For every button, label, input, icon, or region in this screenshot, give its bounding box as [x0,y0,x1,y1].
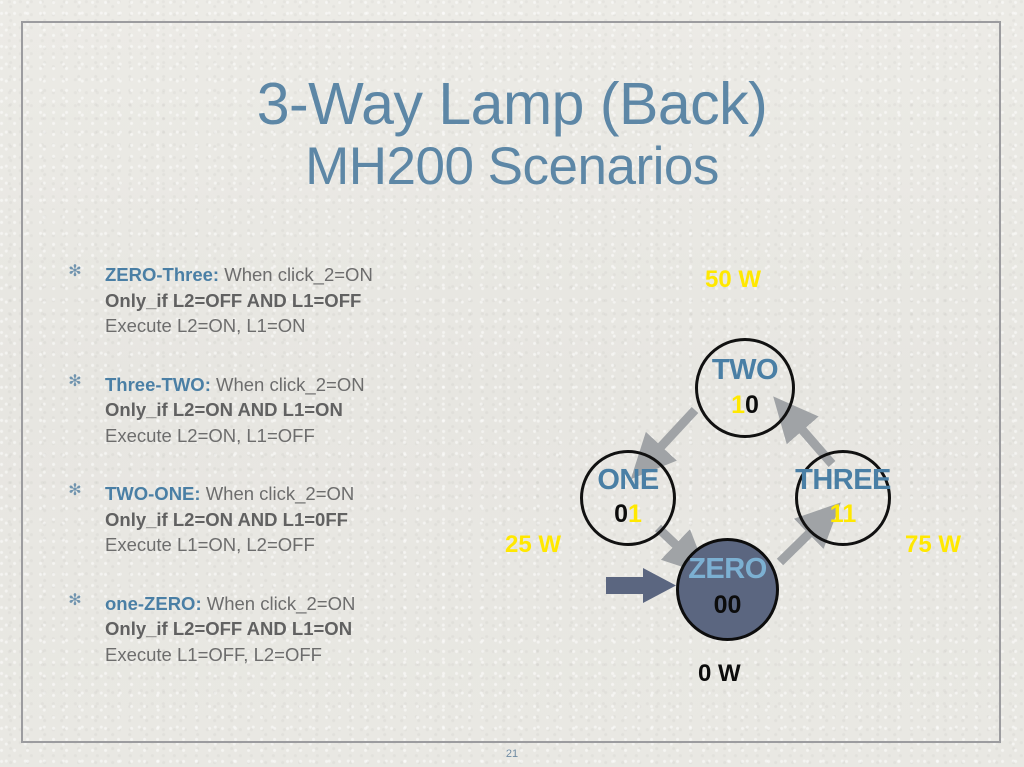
bit-low: 0 [728,591,742,619]
slide-canvas: 3-Way Lamp (Back) MH200 Scenarios ✻ ZERO… [0,0,1024,767]
scenario-name: Three-TWO: [105,374,211,395]
page-subtitle: MH200 Scenarios [0,140,1024,194]
scenario-condition: Only_if L2=ON AND L1=0FF [105,507,494,533]
asterisk-bullet-icon: ✻ [68,484,82,498]
page-title: 3-Way Lamp (Back) [0,74,1024,134]
list-item: ✻ Three-TWO: When click_2=ON Only_if L2=… [64,372,494,449]
scenario-title-line: ZERO-Three: When click_2=ON [105,262,494,288]
state-node-one-bits: 01 [614,500,642,529]
page-number: 21 [0,748,1024,760]
scenario-trigger: When click_2=ON [219,264,373,285]
state-node-two[interactable]: TWO 10 [695,338,795,438]
state-node-three-label: THREE [795,464,891,497]
state-node-zero-label: ZERO [688,553,767,586]
scenario-title-line: Three-TWO: When click_2=ON [105,372,494,398]
wattage-label-zero: 0 W [698,660,741,688]
state-node-one[interactable]: ONE 01 [580,450,676,546]
scenario-title-line: TWO-ONE: When click_2=ON [105,481,494,507]
scenario-condition: Only_if L2=OFF AND L1=OFF [105,288,494,314]
scenario-title-line: one-ZERO: When click_2=ON [105,591,494,617]
scenario-trigger: When click_2=ON [211,374,365,395]
slide-title-block: 3-Way Lamp (Back) MH200 Scenarios [0,74,1024,194]
transition-edges [480,250,1024,720]
scenario-name: TWO-ONE: [105,483,201,504]
wattage-label-one: 25 W [505,531,561,559]
list-item: ✻ TWO-ONE: When click_2=ON Only_if L2=ON… [64,481,494,558]
state-node-three-bits: 11 [830,500,856,529]
wattage-label-three: 75 W [905,531,961,559]
state-node-two-label: TWO [712,354,778,387]
bit-low: 1 [628,500,642,528]
asterisk-bullet-icon: ✻ [68,265,82,279]
state-node-three[interactable]: THREE 11 [795,450,891,546]
bit-low: 1 [842,500,856,528]
scenario-trigger: When click_2=ON [202,593,356,614]
scenario-name: one-ZERO: [105,593,202,614]
state-node-zero[interactable]: ZERO 00 [676,538,779,641]
bit-high: 1 [830,500,843,528]
scenario-execute: Execute L1=OFF, L2=OFF [105,642,494,668]
bit-high: 0 [614,500,628,528]
scenario-execute: Execute L1=ON, L2=OFF [105,532,494,558]
scenario-condition: Only_if L2=OFF AND L1=ON [105,616,494,642]
list-item: ✻ one-ZERO: When click_2=ON Only_if L2=O… [64,591,494,668]
state-machine-diagram: TWO 10 ONE 01 THREE 11 ZERO 00 50 W 25 W… [480,250,1024,720]
scenario-execute: Execute L2=ON, L1=OFF [105,423,494,449]
initial-state-arrow [606,568,676,603]
bit-high: 0 [714,591,728,619]
asterisk-bullet-icon: ✻ [68,375,82,389]
wattage-label-two: 50 W [705,266,761,294]
state-node-two-bits: 10 [731,391,759,420]
state-node-zero-bits: 00 [714,591,742,620]
bit-low: 0 [745,391,759,419]
asterisk-bullet-icon: ✻ [68,594,82,608]
scenario-name: ZERO-Three: [105,264,219,285]
state-node-one-label: ONE [597,464,658,497]
scenario-condition: Only_if L2=ON AND L1=ON [105,397,494,423]
bit-high: 1 [731,391,745,419]
list-item: ✻ ZERO-Three: When click_2=ON Only_if L2… [64,262,494,339]
scenario-execute: Execute L2=ON, L1=ON [105,313,494,339]
scenario-trigger: When click_2=ON [201,483,355,504]
scenario-list: ✻ ZERO-Three: When click_2=ON Only_if L2… [64,262,494,700]
